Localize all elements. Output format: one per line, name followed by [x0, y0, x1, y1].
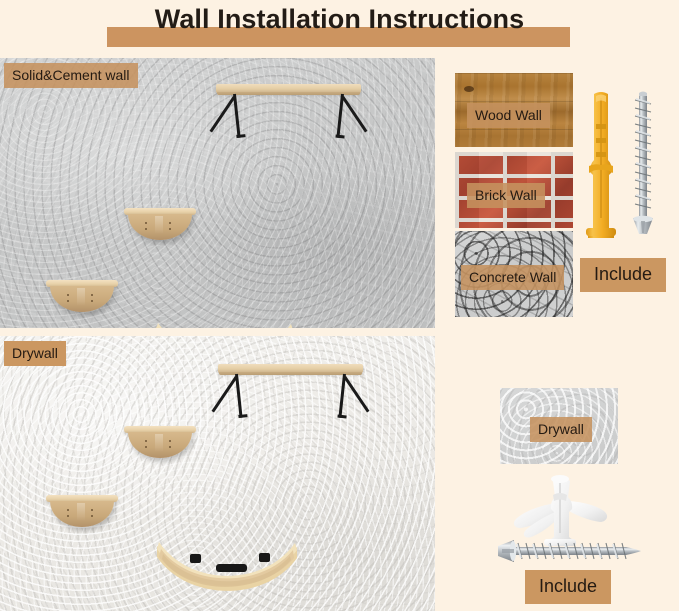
step-half-round-body	[128, 214, 191, 240]
bridge-shape-icon	[152, 321, 297, 328]
swatch-label-concrete: Concrete Wall	[461, 265, 564, 290]
screw-hole	[67, 300, 69, 302]
step-shelf-lower-solid	[46, 280, 118, 316]
screw-hole	[169, 440, 171, 442]
caption-label: Solid&Cement wall	[4, 63, 138, 88]
step-half-round-body	[50, 286, 113, 312]
swatch-label-drywall: Drywall	[530, 417, 592, 442]
shelf-brace-right	[343, 376, 369, 412]
swatch-concrete-wall: Concrete Wall	[455, 231, 573, 317]
screw-hole	[169, 228, 171, 230]
swatch-brick-wall: Brick Wall	[455, 152, 573, 228]
screw-hole	[91, 300, 93, 302]
shelf-bracket-left	[235, 374, 243, 418]
screw-hole	[145, 446, 147, 448]
shelf-brace-left	[210, 96, 236, 132]
shelf-edge	[219, 372, 361, 375]
swatch-wood-wall: Wood Wall	[455, 73, 573, 147]
caption-label: Drywall	[4, 341, 66, 366]
silver-screw-horizontal-icon	[486, 537, 646, 565]
shelf-brace-right	[341, 96, 367, 132]
screw-hole	[67, 509, 69, 511]
screw-hole	[91, 294, 93, 296]
bridge-shape-icon	[153, 540, 301, 598]
shelf-brace-left	[212, 376, 238, 412]
wall-shelf-drywall	[218, 364, 363, 424]
include-label-drywall: Include	[525, 570, 611, 604]
screw-hole	[91, 509, 93, 511]
page-title: Wall Installation Instructions	[0, 4, 679, 35]
caption-solid-cement-wall: Solid&Cement wall	[4, 63, 138, 88]
step-half-round-body	[50, 501, 113, 527]
step-half-round-body	[128, 432, 191, 458]
screw-hole	[169, 222, 171, 224]
swatch-drywall: Drywall	[500, 388, 618, 464]
screw-hole	[145, 222, 147, 224]
curved-cat-bridge-solid	[152, 321, 297, 328]
screw-hole	[145, 440, 147, 442]
page-header: Wall Installation Instructions	[0, 0, 679, 56]
curved-cat-bridge-drywall	[153, 540, 301, 598]
caption-drywall: Drywall	[4, 341, 66, 366]
silver-screw-vertical-icon	[628, 88, 658, 243]
screw-hole	[67, 294, 69, 296]
swatch-label-brick: Brick Wall	[467, 183, 545, 208]
photo-solid-cement-wall: Solid&Cement wall	[0, 58, 435, 328]
step-shelf-lower-drywall	[46, 495, 118, 531]
shelf-bracket-left	[233, 94, 241, 138]
step-shelf-upper-drywall	[124, 426, 196, 462]
wall-shelf-solid	[216, 84, 361, 144]
screw-hole	[169, 446, 171, 448]
screw-hole	[67, 515, 69, 517]
shelf-edge	[217, 92, 359, 95]
include-label-hard-wall: Include	[580, 258, 666, 292]
screw-hole	[145, 228, 147, 230]
photo-drywall: Drywall	[0, 336, 435, 611]
screw-hole	[91, 515, 93, 517]
swatch-label-wood: Wood Wall	[467, 103, 550, 128]
yellow-expansion-anchor-icon	[582, 90, 620, 242]
step-shelf-upper-solid	[124, 208, 196, 244]
infographic-page: Wall Installation Instructions Solid&Cem…	[0, 0, 679, 611]
